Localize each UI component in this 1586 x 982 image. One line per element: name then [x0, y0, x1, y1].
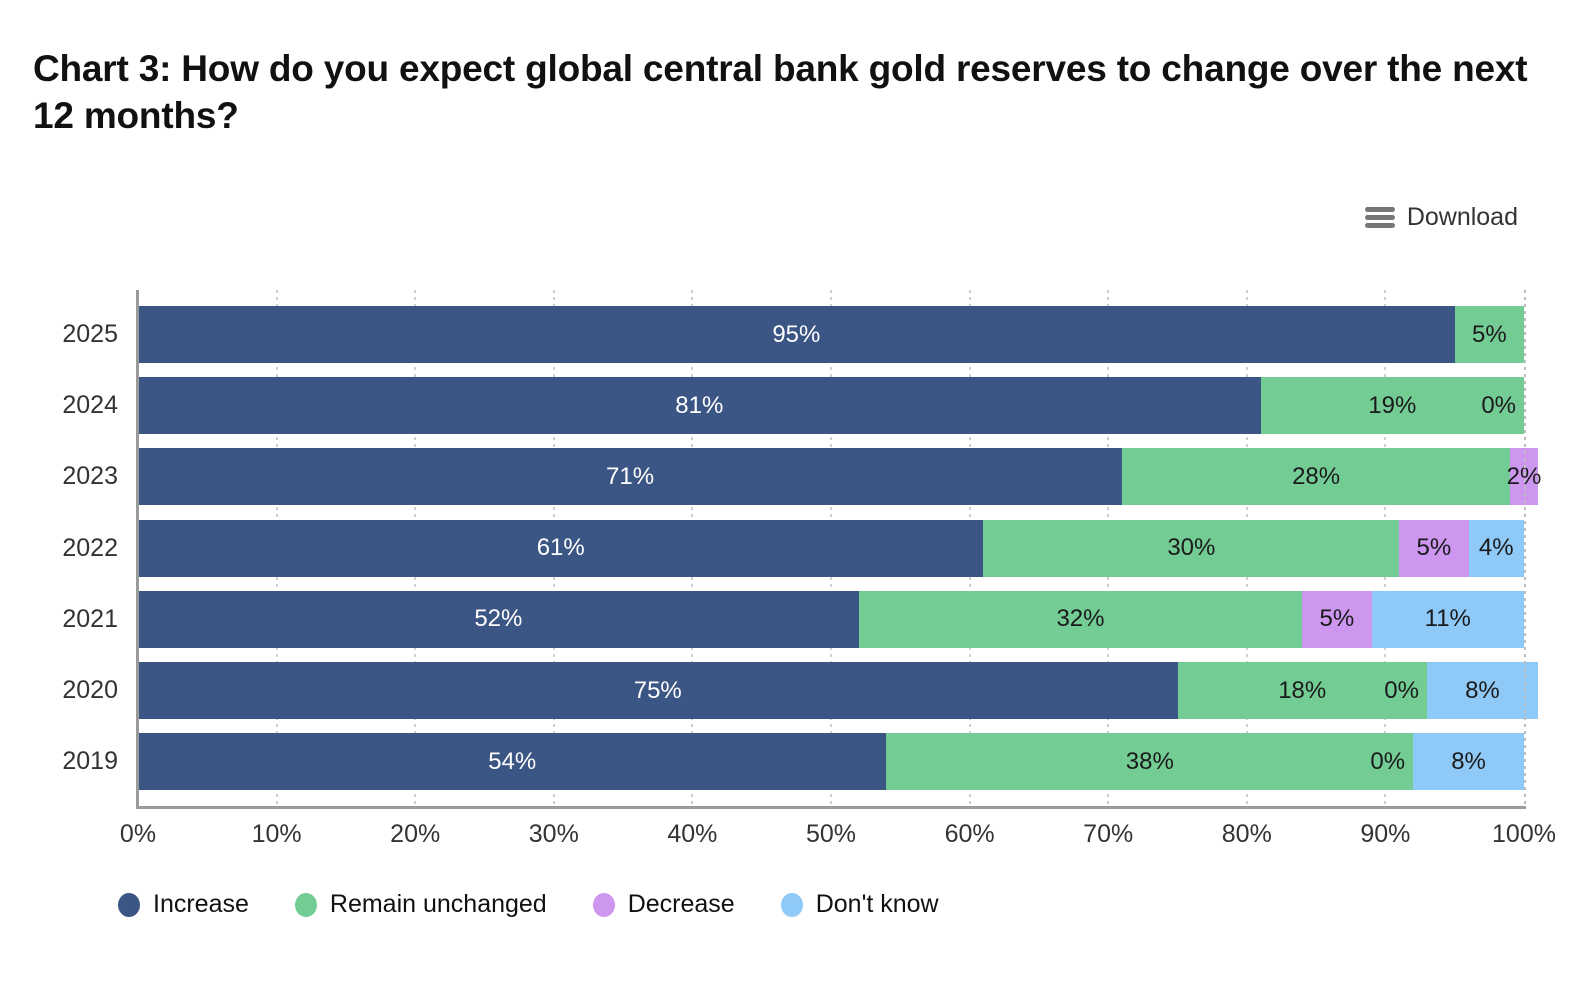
y-axis-category-label: 2022 — [0, 520, 118, 577]
bar-row: 202152%32%5%11% — [0, 591, 1586, 648]
legend-label: Increase — [153, 890, 249, 919]
bar-segment-value: 0% — [1481, 392, 1524, 420]
legend-item[interactable]: Increase — [118, 890, 249, 919]
download-button-label: Download — [1407, 203, 1518, 232]
bar-segment[interactable]: 81% — [138, 377, 1261, 434]
bar-segment-value: 5% — [1472, 321, 1507, 349]
bar-segment[interactable]: 75% — [138, 662, 1178, 719]
legend-color-dot — [118, 893, 140, 917]
bar-segment[interactable]: 28% — [1122, 448, 1510, 505]
y-axis-line — [136, 290, 139, 808]
plot-right-boundary — [1524, 290, 1526, 808]
bar-segment-value: 8% — [1451, 748, 1486, 776]
bar-row: 202481%19%0% — [0, 377, 1586, 434]
bar-segment-value: 18% — [1278, 677, 1326, 705]
bar-segment-value: 71% — [606, 463, 654, 491]
chart-legend: IncreaseRemain unchangedDecreaseDon't kn… — [118, 890, 939, 919]
bar-segment[interactable]: 5% — [1399, 520, 1468, 577]
stacked-bar: 71%28%2% — [138, 448, 1524, 505]
stacked-bar: 81%19%0% — [138, 377, 1524, 434]
bar-segment[interactable]: 4% — [1469, 520, 1524, 577]
y-axis-category-label: 2020 — [0, 662, 118, 719]
bar-segment[interactable]: 54% — [138, 733, 886, 790]
bar-segment-value: 0% — [1370, 748, 1413, 776]
x-axis-tick-labels: 0%10%20%30%40%50%60%70%80%90%100% — [0, 820, 1586, 860]
legend-label: Decrease — [628, 890, 735, 919]
bar-segment-value: 52% — [474, 605, 522, 633]
bar-segment[interactable]: 95% — [138, 306, 1455, 363]
bar-segment-value: 19% — [1368, 392, 1416, 420]
x-axis-tick-label: 40% — [667, 820, 717, 849]
y-axis-category-label: 2024 — [0, 377, 118, 434]
bar-segment[interactable]: 5% — [1302, 591, 1371, 648]
bar-segment[interactable]: 52% — [138, 591, 859, 648]
x-axis-tick-label: 30% — [529, 820, 579, 849]
x-axis-tick-label: 60% — [945, 820, 995, 849]
bar-segment-value: 28% — [1292, 463, 1340, 491]
legend-item[interactable]: Decrease — [593, 890, 735, 919]
bar-segment-value: 38% — [1126, 748, 1174, 776]
stacked-bar: 75%18%0%8% — [138, 662, 1524, 719]
y-axis-category-label: 2023 — [0, 448, 118, 505]
bar-row: 202371%28%2% — [0, 448, 1586, 505]
bar-segment-value: 95% — [772, 321, 820, 349]
stacked-bar: 52%32%5%11% — [138, 591, 1524, 648]
bar-segment[interactable]: 32% — [859, 591, 1303, 648]
bar-segment[interactable]: 11% — [1372, 591, 1524, 648]
legend-color-dot — [295, 893, 317, 917]
y-axis-category-label: 2021 — [0, 591, 118, 648]
x-axis-tick-label: 70% — [1083, 820, 1133, 849]
bar-segment[interactable]: 71% — [138, 448, 1122, 505]
stacked-bar: 61%30%5%4% — [138, 520, 1524, 577]
x-axis-tick-label: 20% — [390, 820, 440, 849]
bar-row: 202075%18%0%8% — [0, 662, 1586, 719]
bar-segment-value: 8% — [1465, 677, 1500, 705]
bar-row: 201954%38%0%8% — [0, 733, 1586, 790]
bar-segment[interactable]: 30% — [983, 520, 1399, 577]
legend-item[interactable]: Remain unchanged — [295, 890, 547, 919]
page-title: Chart 3: How do you expect global centra… — [33, 45, 1553, 140]
bar-segment-value: 5% — [1417, 534, 1452, 562]
legend-label: Don't know — [816, 890, 939, 919]
x-axis-tick-label: 90% — [1360, 820, 1410, 849]
bar-segment-value: 32% — [1056, 605, 1104, 633]
y-axis-category-label: 2025 — [0, 306, 118, 363]
bar-segment-value: 61% — [537, 534, 585, 562]
chart-page: Chart 3: How do you expect global centra… — [0, 0, 1586, 982]
x-axis-line — [136, 806, 1526, 809]
x-axis-tick-label: 0% — [120, 820, 156, 849]
bar-segment-value: 0% — [1384, 677, 1427, 705]
legend-color-dot — [781, 893, 803, 917]
bar-segment[interactable]: 61% — [138, 520, 983, 577]
bar-segment-value: 54% — [488, 748, 536, 776]
legend-label: Remain unchanged — [330, 890, 547, 919]
stacked-bar: 95%5% — [138, 306, 1524, 363]
bar-segment-value: 75% — [634, 677, 682, 705]
bar-segment-value: 11% — [1425, 605, 1471, 633]
bar-segment[interactable]: 8% — [1427, 662, 1538, 719]
legend-color-dot — [593, 893, 615, 917]
bar-segment[interactable]: 8% — [1413, 733, 1524, 790]
stacked-bar: 54%38%0%8% — [138, 733, 1524, 790]
bar-segment-value: 30% — [1167, 534, 1215, 562]
x-axis-tick-label: 50% — [806, 820, 856, 849]
bar-row: 202595%5% — [0, 306, 1586, 363]
bar-segment-value: 4% — [1479, 534, 1514, 562]
bar-segment-value: 5% — [1320, 605, 1355, 633]
x-axis-tick-label: 100% — [1492, 820, 1556, 849]
hamburger-icon — [1365, 207, 1395, 228]
x-axis-tick-label: 80% — [1222, 820, 1272, 849]
plot-area: 202595%5%202481%19%0%202371%28%2%202261%… — [0, 290, 1586, 810]
bar-segment[interactable]: 5% — [1455, 306, 1524, 363]
bar-segment[interactable]: 38% — [886, 733, 1413, 790]
legend-item[interactable]: Don't know — [781, 890, 939, 919]
x-axis-tick-label: 10% — [252, 820, 302, 849]
download-button[interactable]: Download — [1365, 203, 1518, 232]
bar-row: 202261%30%5%4% — [0, 520, 1586, 577]
bar-segment-value: 81% — [675, 392, 723, 420]
y-axis-category-label: 2019 — [0, 733, 118, 790]
